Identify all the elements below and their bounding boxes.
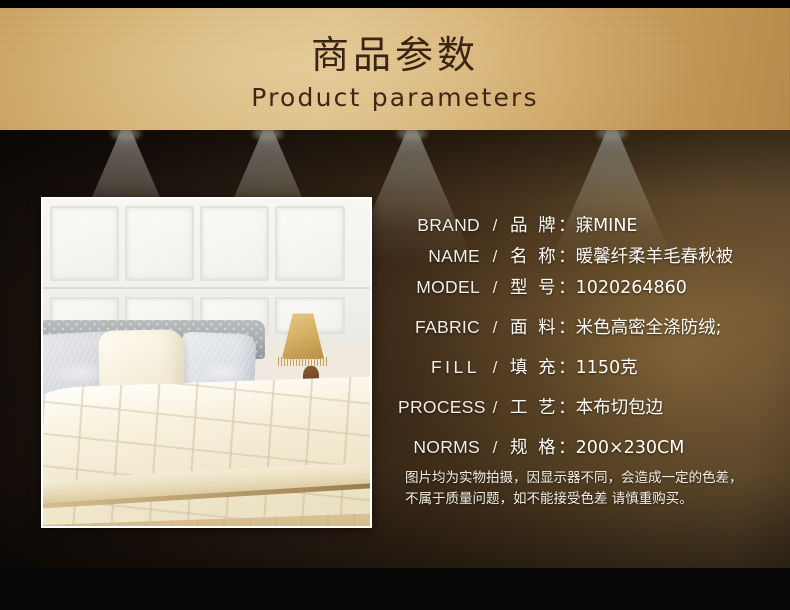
header-banner-wrap: 商品参数 Product parameters <box>0 0 790 138</box>
spec-separator: / <box>480 432 510 463</box>
disclaimer-line-2: 不属于质量问题，如不能接受色差 请慎重购买。 <box>405 489 775 510</box>
spec-key-norms: 规 格 <box>510 438 558 458</box>
spec-colon: ： <box>558 247 576 267</box>
disclaimer-line-1: 图片均为实物拍摄，因显示器不同，会造成一定的色差， <box>405 468 775 489</box>
spec-row-brand: BRAND / 品 牌：寐MINE <box>398 210 758 241</box>
page-title-en: Product parameters <box>0 83 790 113</box>
wall-panel <box>50 206 119 282</box>
spec-row-process: PROCESS / 工 艺：本布切包边 <box>398 392 758 423</box>
spec-value-fabric: 面 料：米色高密全涤防绒; <box>510 313 758 344</box>
disclaimer-note: 图片均为实物拍摄，因显示器不同，会造成一定的色差， 不属于质量问题，如不能接受色… <box>405 468 775 510</box>
spec-text-process: 本布切包边 <box>576 398 664 418</box>
spec-separator: / <box>480 210 510 241</box>
spec-value-process: 工 艺：本布切包边 <box>510 393 758 424</box>
wall-moulding <box>43 287 370 289</box>
spec-list: BRAND / 品 牌：寐MINE NAME / 名 称：暖馨纤柔羊毛春秋被 M… <box>398 210 758 463</box>
spec-row-fill: FILL / 填 充：1150克 <box>398 352 758 383</box>
spec-value-fill: 填 充：1150克 <box>510 353 758 384</box>
header-banner: 商品参数 Product parameters <box>0 8 790 130</box>
spec-text-fill: 1150克 <box>576 358 638 378</box>
banner-text-block: 商品参数 Product parameters <box>0 8 790 113</box>
spec-separator: / <box>480 272 510 303</box>
footer-black-bar <box>0 568 790 610</box>
spec-row-model: MODEL / 型 号：1020264860 <box>398 272 758 303</box>
spec-key-model: 型 号 <box>510 278 558 298</box>
spec-key-process: 工 艺 <box>510 398 558 418</box>
spec-colon: ： <box>558 318 576 338</box>
product-photo-frame[interactable] <box>41 197 372 528</box>
spec-separator: / <box>480 312 510 343</box>
spec-label-process: PROCESS <box>398 392 480 423</box>
wall-panel <box>200 206 269 282</box>
product-photo <box>43 199 370 526</box>
spec-separator: / <box>480 392 510 423</box>
spec-colon: ： <box>558 358 576 378</box>
table-lamp-fringe <box>278 357 327 366</box>
spec-label-fabric: FABRIC <box>398 312 480 343</box>
spec-text-norms: 200×230CM <box>576 438 685 458</box>
spec-label-fill: FILL <box>398 352 480 383</box>
spec-text-model: 1020264860 <box>576 278 687 298</box>
wall-panel <box>275 206 344 282</box>
page-title-cn: 商品参数 <box>0 33 790 77</box>
spec-row-name: NAME / 名 称：暖馨纤柔羊毛春秋被 <box>398 241 758 272</box>
spec-key-name: 名 称 <box>510 247 558 267</box>
spec-key-fill: 填 充 <box>510 358 558 378</box>
spec-label-model: MODEL <box>398 272 480 303</box>
product-parameters-page: 商品参数 Product parameters <box>0 0 790 610</box>
spec-row-norms: NORMS / 规 格：200×230CM <box>398 432 758 463</box>
spec-value-model: 型 号：1020264860 <box>510 273 758 304</box>
spec-colon: ： <box>558 438 576 458</box>
spec-separator: / <box>480 352 510 383</box>
spec-label-norms: NORMS <box>398 432 480 463</box>
spec-key-fabric: 面 料 <box>510 318 558 338</box>
spec-label-brand: BRAND <box>398 210 480 241</box>
spec-colon: ： <box>558 216 576 236</box>
spec-label-name: NAME <box>398 241 480 272</box>
spec-key-brand: 品 牌 <box>510 216 558 236</box>
spec-text-brand: 寐MINE <box>576 216 638 236</box>
spec-colon: ： <box>558 398 576 418</box>
spec-text-name: 暖馨纤柔羊毛春秋被 <box>576 247 734 267</box>
spec-separator: / <box>480 241 510 272</box>
spec-value-name: 名 称：暖馨纤柔羊毛春秋被 <box>510 242 758 273</box>
wall-panel <box>125 206 194 282</box>
spec-value-brand: 品 牌：寐MINE <box>510 211 758 242</box>
spec-text-fabric: 米色高密全涤防绒; <box>576 318 722 338</box>
spec-row-fabric: FABRIC / 面 料：米色高密全涤防绒; <box>398 312 758 343</box>
spec-colon: ： <box>558 278 576 298</box>
spec-value-norms: 规 格：200×230CM <box>510 433 758 464</box>
